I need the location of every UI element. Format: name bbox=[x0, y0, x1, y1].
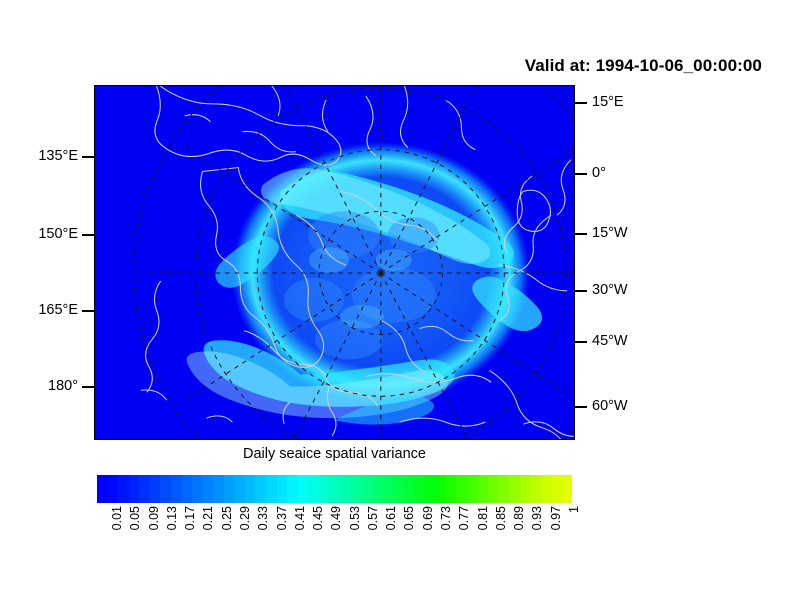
colorbar-swatch-8 bbox=[182, 475, 193, 503]
colorbar-swatch-44 bbox=[562, 475, 573, 503]
axis-label-right-4: 45°W bbox=[592, 333, 628, 349]
tick-right-4 bbox=[574, 341, 587, 343]
colorbar-swatch-22 bbox=[329, 475, 340, 503]
colorbar-swatch-19 bbox=[298, 475, 309, 503]
colorbar-tick-label-13: 0.53 bbox=[348, 506, 362, 530]
colorbar-swatch-18 bbox=[287, 475, 298, 503]
colorbar-tick-label-20: 0.81 bbox=[476, 506, 490, 530]
tick-left-0 bbox=[82, 156, 95, 158]
colorbar-swatch-42 bbox=[541, 475, 552, 503]
colorbar-tick-label-10: 0.41 bbox=[293, 506, 307, 530]
colorbar-tick-label-19: 0.77 bbox=[457, 506, 471, 530]
colorbar-tick-label-14: 0.57 bbox=[366, 506, 380, 530]
colorbar-swatch-10 bbox=[203, 475, 214, 503]
colorbar-swatch-41 bbox=[530, 475, 541, 503]
colorbar-swatch-15 bbox=[255, 475, 266, 503]
tick-left-1 bbox=[82, 234, 95, 236]
colorbar-swatch-27 bbox=[382, 475, 393, 503]
colorbar-swatch-21 bbox=[319, 475, 330, 503]
colorbar-tick-label-16: 0.65 bbox=[402, 506, 416, 530]
colorbar-tick-label-12: 0.49 bbox=[329, 506, 343, 530]
colorbar-swatch-33 bbox=[446, 475, 457, 503]
colorbar-swatch-28 bbox=[393, 475, 404, 503]
colorbar-tick-label-15: 0.61 bbox=[384, 506, 398, 530]
colorbar-swatch-31 bbox=[424, 475, 435, 503]
colorbar-tick-label-3: 0.13 bbox=[165, 506, 179, 530]
colorbar-swatch-3 bbox=[129, 475, 140, 503]
axis-label-right-3: 30°W bbox=[592, 282, 628, 298]
polar-stereographic-map bbox=[95, 86, 574, 439]
colorbar-swatch-39 bbox=[509, 475, 520, 503]
colorbar-swatch-12 bbox=[224, 475, 235, 503]
tick-right-1 bbox=[574, 173, 587, 175]
axis-label-left-0: 135°E bbox=[0, 148, 78, 164]
colorbar-swatch-36 bbox=[477, 475, 488, 503]
colorbar-tick-label-23: 0.93 bbox=[530, 506, 544, 530]
colorbar-tick-label-21: 0.85 bbox=[494, 506, 508, 530]
colorbar-tick-label-2: 0.09 bbox=[147, 506, 161, 530]
colorbar-swatch-6 bbox=[160, 475, 171, 503]
colorbar-swatch-32 bbox=[435, 475, 446, 503]
colorbar-tick-label-0: 0.01 bbox=[110, 506, 124, 530]
colorbar-swatch-23 bbox=[340, 475, 351, 503]
tick-left-3 bbox=[82, 386, 95, 388]
page-title: Valid at: 1994-10-06_00:00:00 bbox=[0, 56, 762, 76]
colorbar-swatch-30 bbox=[414, 475, 425, 503]
colorbar-tick-label-6: 0.25 bbox=[220, 506, 234, 530]
figure-canvas: Valid at: 1994-10-06_00:00:00 bbox=[0, 0, 792, 612]
colorbar-swatch-17 bbox=[277, 475, 288, 503]
colorbar-swatch-13 bbox=[234, 475, 245, 503]
colorbar-tick-label-22: 0.89 bbox=[512, 506, 526, 530]
colorbar-tick-labels: 0.010.050.090.130.170.210.250.290.330.37… bbox=[97, 506, 572, 566]
axis-label-right-1: 0° bbox=[592, 165, 606, 181]
axis-label-right-5: 60°W bbox=[592, 398, 628, 414]
colorbar-swatch-5 bbox=[150, 475, 161, 503]
colorbar-tick-label-25: 1 bbox=[567, 506, 581, 513]
colorbar-swatch-2 bbox=[118, 475, 129, 503]
tick-right-0 bbox=[574, 102, 587, 104]
colorbar-swatch-38 bbox=[498, 475, 509, 503]
colorbar-tick-label-11: 0.45 bbox=[311, 506, 325, 530]
colorbar-swatch-35 bbox=[467, 475, 478, 503]
colorbar-swatch-34 bbox=[456, 475, 467, 503]
colorbar-swatch-4 bbox=[139, 475, 150, 503]
colorbar-swatch-25 bbox=[361, 475, 372, 503]
colorbar-tick-label-8: 0.33 bbox=[256, 506, 270, 530]
plot-caption: Daily seaice spatial variance bbox=[94, 446, 575, 462]
colorbar-tick-label-7: 0.29 bbox=[238, 506, 252, 530]
colorbar-swatch-20 bbox=[308, 475, 319, 503]
colorbar-swatch-16 bbox=[266, 475, 277, 503]
colorbar-tick-label-9: 0.37 bbox=[275, 506, 289, 530]
colorbar-tick-label-24: 0.97 bbox=[549, 506, 563, 530]
colorbar[interactable] bbox=[97, 475, 572, 503]
colorbar-swatch-0 bbox=[97, 475, 108, 503]
colorbar-swatch-26 bbox=[372, 475, 383, 503]
axis-label-left-1: 150°E bbox=[0, 226, 78, 242]
colorbar-tick-label-17: 0.69 bbox=[421, 506, 435, 530]
tick-right-5 bbox=[574, 406, 587, 408]
map-plot-area[interactable] bbox=[94, 85, 575, 440]
axis-label-left-2: 165°E bbox=[0, 302, 78, 318]
colorbar-tick-label-1: 0.05 bbox=[128, 506, 142, 530]
colorbar-swatch-43 bbox=[551, 475, 562, 503]
colorbar-swatch-24 bbox=[351, 475, 362, 503]
colorbar-gradient bbox=[97, 475, 572, 503]
colorbar-tick-label-4: 0.17 bbox=[183, 506, 197, 530]
colorbar-swatch-11 bbox=[213, 475, 224, 503]
axis-label-left-3: 180° bbox=[0, 378, 78, 394]
colorbar-swatch-14 bbox=[245, 475, 256, 503]
colorbar-swatch-9 bbox=[192, 475, 203, 503]
colorbar-tick-label-18: 0.73 bbox=[439, 506, 453, 530]
colorbar-swatch-1 bbox=[108, 475, 119, 503]
axis-label-right-0: 15°E bbox=[592, 94, 624, 110]
axis-label-right-2: 15°W bbox=[592, 225, 628, 241]
colorbar-swatch-37 bbox=[488, 475, 499, 503]
colorbar-tick-label-5: 0.21 bbox=[201, 506, 215, 530]
colorbar-swatch-40 bbox=[520, 475, 531, 503]
tick-right-2 bbox=[574, 233, 587, 235]
tick-right-3 bbox=[574, 290, 587, 292]
colorbar-swatch-7 bbox=[171, 475, 182, 503]
colorbar-swatch-29 bbox=[403, 475, 414, 503]
tick-left-2 bbox=[82, 310, 95, 312]
